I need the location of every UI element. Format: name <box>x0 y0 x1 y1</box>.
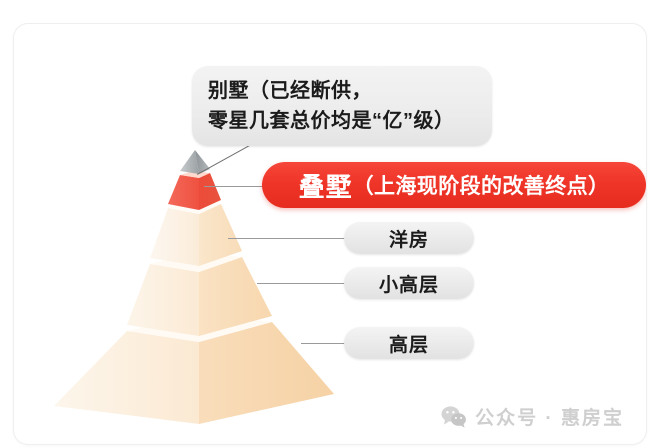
watermark-text: 公众号 · 惠房宝 <box>475 403 624 430</box>
watermark: 公众号 · 惠房宝 <box>441 403 624 430</box>
callout-gaoceng[interactable]: 高层 <box>344 327 474 359</box>
connector-bieshu <box>197 144 252 175</box>
callout-bieshu[interactable]: 别墅（已经断供，零星几套总价均是“亿”级） <box>192 66 492 146</box>
callout-yangfang[interactable]: 洋房 <box>344 222 474 254</box>
callout-diesu-rest: （上海现阶段的改善终点） <box>353 170 610 200</box>
connector-gaoceng <box>301 343 345 344</box>
callout-yangfang-label: 洋房 <box>389 225 429 252</box>
callout-xiaogaoceng-label: 小高层 <box>379 270 439 297</box>
pyramid-tier-xiaogaoceng <box>127 252 272 336</box>
callout-bieshu-text: 别墅（已经断供，零星几套总价均是“亿”级） <box>208 76 455 136</box>
callout-diesu-lead: 叠墅 <box>299 167 353 204</box>
connector-yangfang <box>228 238 345 239</box>
diagram-card: 别墅（已经断供，零星几套总价均是“亿”级） 叠墅（上海现阶段的改善终点） 洋房 … <box>14 24 646 444</box>
diagram-stage: 别墅（已经断供，零星几套总价均是“亿”级） 叠墅（上海现阶段的改善终点） 洋房 … <box>14 24 646 444</box>
callout-xiaogaoceng[interactable]: 小高层 <box>344 267 474 299</box>
connector-xiaogaoceng <box>257 283 345 284</box>
callout-gaoceng-label: 高层 <box>389 330 429 357</box>
pyramid-tier-yangfang <box>150 200 242 266</box>
wechat-icon <box>441 406 467 428</box>
connector-diesu <box>204 186 264 187</box>
pyramid-tier-diesu <box>168 171 221 210</box>
pyramid-tier-gaoceng <box>54 314 334 424</box>
callout-diesu[interactable]: 叠墅（上海现阶段的改善终点） <box>262 162 646 208</box>
